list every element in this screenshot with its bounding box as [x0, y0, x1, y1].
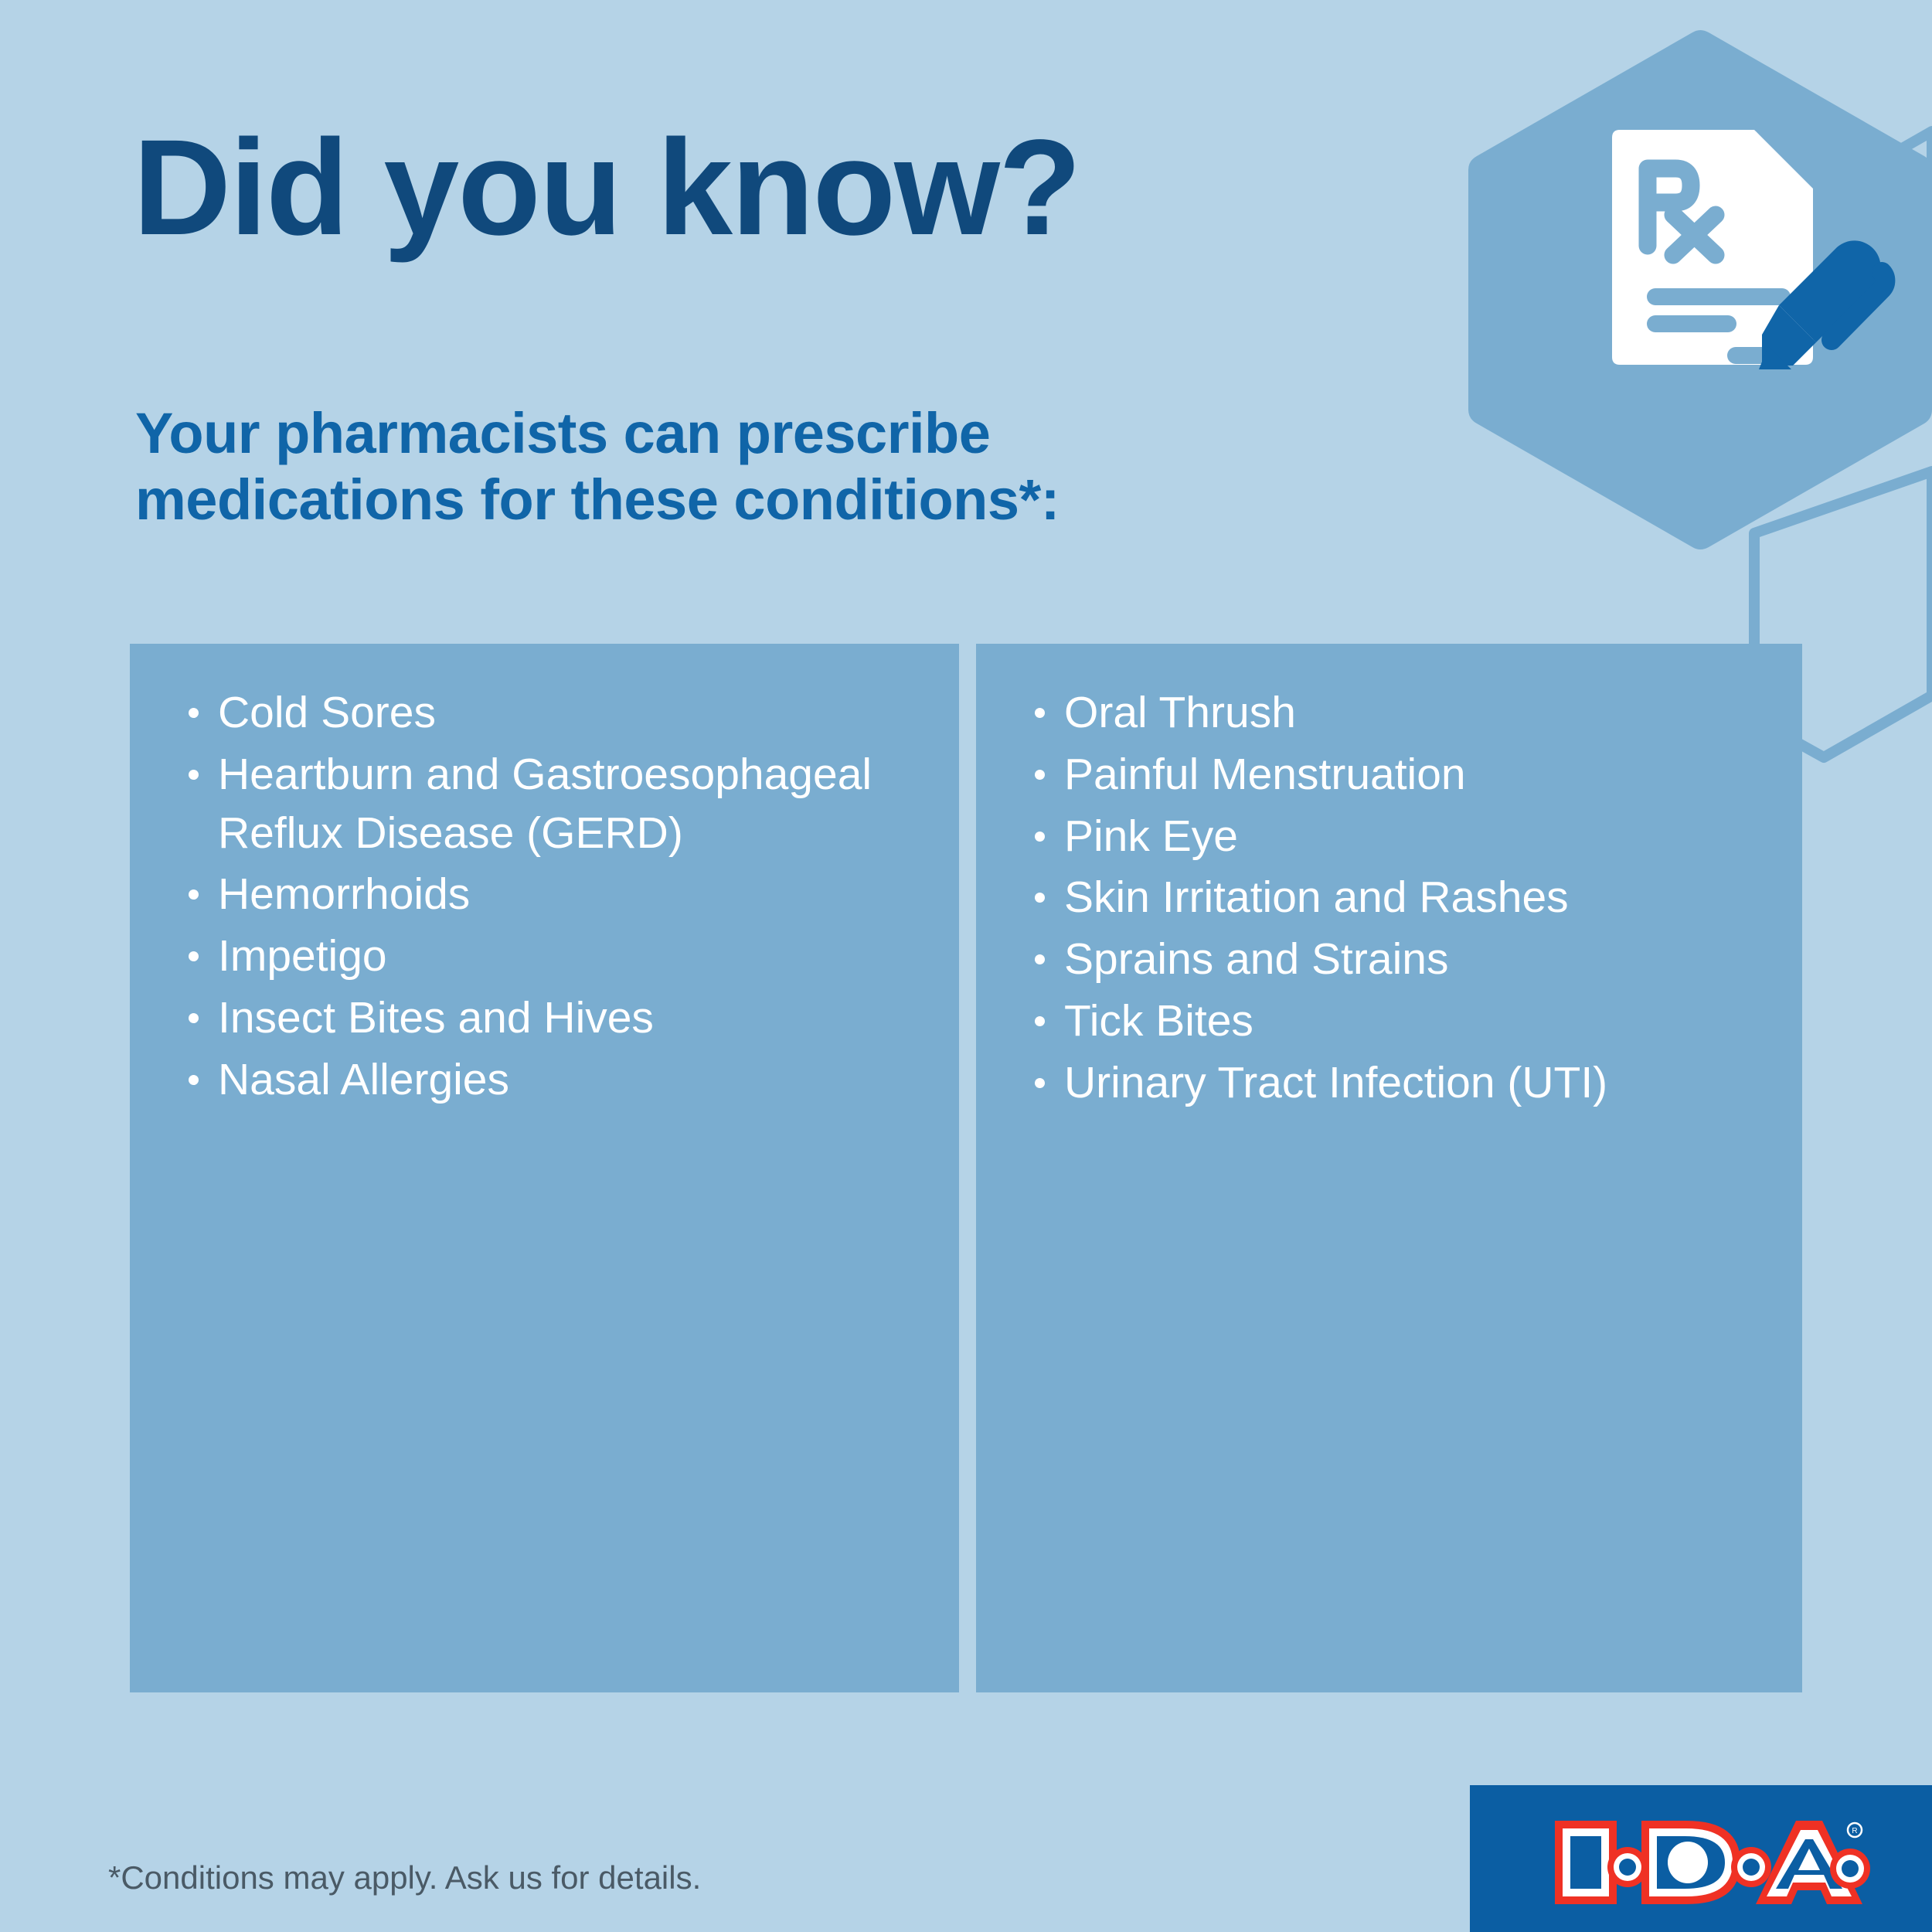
brand-logo-block: R	[1470, 1785, 1932, 1932]
condition-item: Skin Irritation and Rashes	[1032, 869, 1771, 927]
condition-item: Nasal Allergies	[185, 1051, 928, 1110]
page-subtitle: Your pharmacists can prescribe medicatio…	[135, 400, 1060, 533]
condition-item: Pink Eye	[1032, 808, 1771, 866]
prescription-artwork	[1453, 23, 1932, 657]
page-title: Did you know?	[133, 120, 1080, 256]
rx-rule-2	[1647, 315, 1736, 332]
subtitle-line-2: medications for these conditions*:	[135, 467, 1060, 533]
condition-item: Sprains and Strains	[1032, 930, 1771, 989]
conditions-panel-right: Oral ThrushPainful MenstruationPink EyeS…	[976, 644, 1802, 1692]
subtitle-line-1: Your pharmacists can prescribe	[135, 400, 1060, 467]
condition-item: Cold Sores	[185, 684, 928, 743]
footnote-disclaimer: *Conditions may apply. Ask us for detail…	[108, 1859, 701, 1896]
svg-text:R: R	[1852, 1827, 1857, 1835]
condition-item: Hemorrhoids	[185, 866, 928, 924]
condition-item: Tick Bites	[1032, 992, 1771, 1051]
condition-item: Heartburn and Gastroesophageal Reflux Di…	[185, 746, 928, 863]
ida-logo: R	[1550, 1813, 1875, 1912]
conditions-panels: Cold SoresHeartburn and Gastroesophageal…	[130, 644, 1802, 1692]
condition-item: Impetigo	[185, 927, 928, 986]
poster-canvas: Did you know? Your pharmacists can presc…	[0, 0, 1932, 1932]
conditions-panel-left: Cold SoresHeartburn and Gastroesophageal…	[130, 644, 959, 1692]
condition-item: Painful Menstruation	[1032, 746, 1771, 804]
rx-rule-1	[1647, 288, 1791, 305]
conditions-list-right: Oral ThrushPainful MenstruationPink EyeS…	[1032, 684, 1771, 1113]
condition-item: Oral Thrush	[1032, 684, 1771, 743]
conditions-list-left: Cold SoresHeartburn and Gastroesophageal…	[185, 684, 928, 1110]
condition-item: Insect Bites and Hives	[185, 989, 928, 1048]
condition-item: Urinary Tract Infection (UTI)	[1032, 1054, 1771, 1113]
